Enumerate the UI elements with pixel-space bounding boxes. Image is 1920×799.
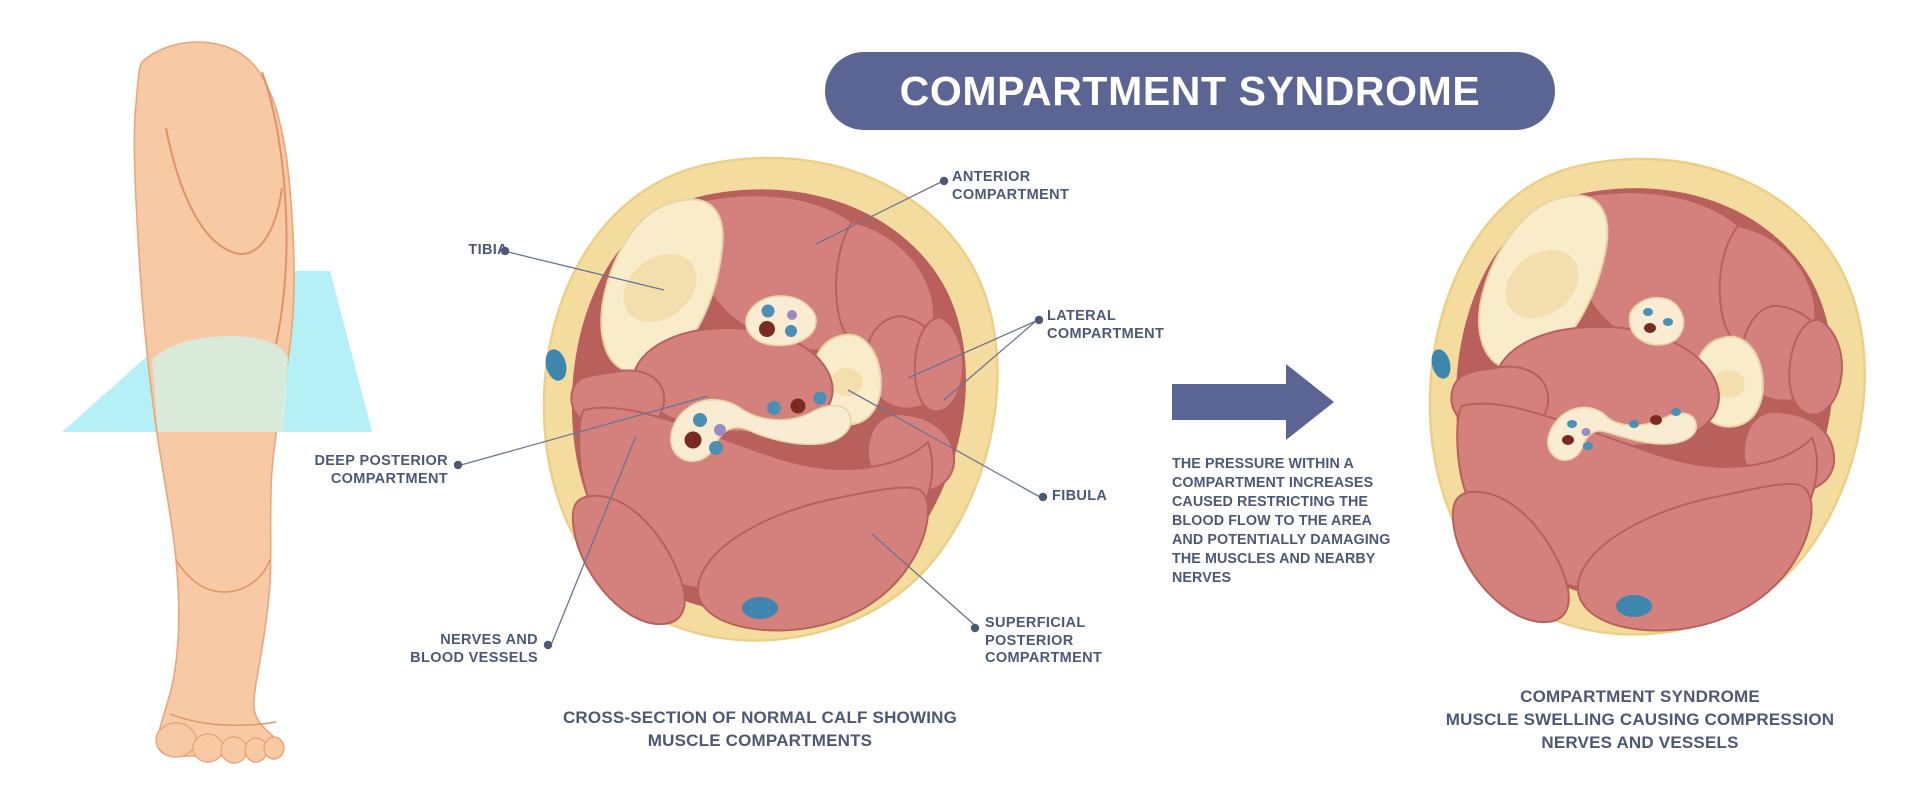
vein-icon — [1671, 408, 1681, 416]
page-title: COMPARTMENT SYNDROME — [900, 68, 1481, 115]
label-superficial-posterior-compartment: SUPERFICIAL POSTERIOR COMPARTMENT — [985, 615, 1165, 668]
page-title-banner: COMPARTMENT SYNDROME — [825, 52, 1555, 130]
cross-section-swollen — [1429, 159, 1865, 635]
label-nerves-and-blood-vessels: NERVES AND BLOOD VESSELS — [378, 632, 538, 667]
nerve-icon — [1582, 428, 1591, 436]
label-lateral-compartment: LATERAL COMPARTMENT — [1047, 308, 1217, 343]
vein-icon — [1643, 308, 1653, 316]
left-diagram-caption: CROSS-SECTION OF NORMAL CALF SHOWING MUS… — [560, 707, 960, 753]
small-saphenous-vein-icon — [1616, 595, 1652, 617]
infographic-canvas: COMPARTMENT SYNDROME TIBIA ANTERIOR COMP… — [0, 0, 1920, 799]
vein-icon — [1567, 420, 1577, 428]
vein-icon — [1583, 442, 1593, 450]
label-fibula: FIBULA — [1052, 488, 1172, 506]
right-diagram-caption: COMPARTMENT SYNDROME MUSCLE SWELLING CAU… — [1440, 686, 1840, 755]
artery-icon — [1562, 435, 1574, 445]
label-anterior-compartment: ANTERIOR COMPARTMENT — [952, 169, 1122, 204]
label-tibia: TIBIA — [418, 242, 508, 260]
vein-icon — [1629, 420, 1639, 428]
bundle-shape — [1629, 298, 1683, 345]
label-deep-posterior-compartment: DEEP POSTERIOR COMPARTMENT — [278, 453, 448, 488]
artery-icon — [1650, 415, 1662, 425]
artery-icon — [1644, 323, 1656, 333]
anterior-neurovascular-bundle-compressed — [1629, 298, 1683, 345]
pressure-explanation-text: THE PRESSURE WITHIN A COMPARTMENT INCREA… — [1172, 455, 1394, 588]
vein-icon — [1663, 318, 1673, 326]
